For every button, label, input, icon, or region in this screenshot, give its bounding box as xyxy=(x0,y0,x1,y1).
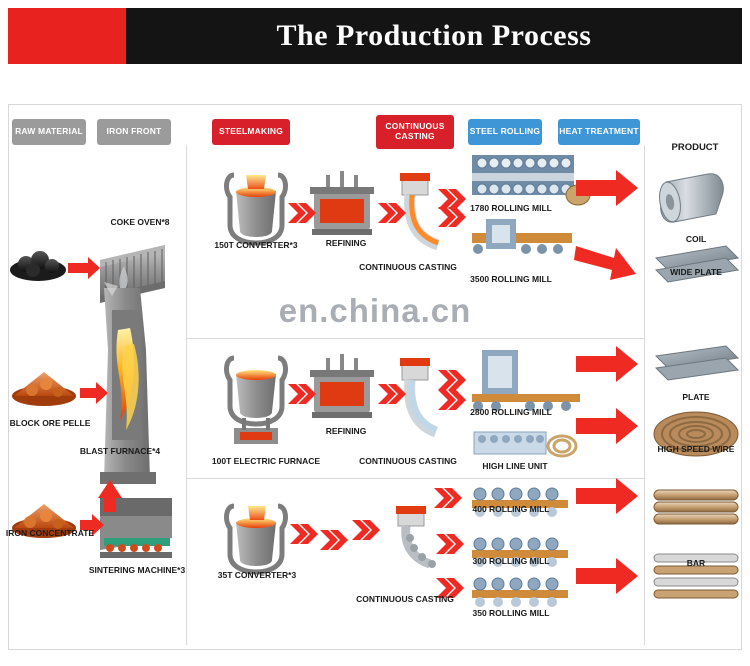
arrow-to-coil xyxy=(576,170,638,206)
label-high-line-unit: HIGH LINE UNIT xyxy=(460,461,570,471)
continuous-casting-icon-2 xyxy=(400,358,436,432)
label-product-plate: PLATE xyxy=(646,392,746,402)
label-refining-mid: REFINING xyxy=(306,426,386,436)
arrow-to-wide-plate xyxy=(574,246,636,280)
stage-label: STEELMAKING xyxy=(219,127,283,137)
header-red-block xyxy=(8,8,126,64)
coal-pile-icon xyxy=(10,251,66,281)
converter-150t-icon xyxy=(227,175,286,243)
label-converter-150t: 150T CONVERTER*3 xyxy=(196,240,316,250)
label-refining-top: REFINING xyxy=(306,238,386,248)
continuous-casting-icon-3 xyxy=(396,506,436,568)
product-bar-icon xyxy=(654,490,738,598)
page-header: The Production Process xyxy=(0,8,750,64)
stage-pill-steel-rolling[interactable]: STEEL ROLLING xyxy=(468,119,542,145)
stage-label: STEEL ROLLING xyxy=(470,127,540,137)
arrow-to-wire xyxy=(576,408,638,444)
product-coil-icon xyxy=(657,174,724,224)
label-mill-300: 300 ROLLING MILL xyxy=(456,556,566,566)
continuous-casting-icon-1 xyxy=(400,173,438,245)
chevrons-row2-b xyxy=(378,384,406,404)
converter-100t-icon xyxy=(227,358,286,444)
label-electric-furnace: 100T ELECTRIC FURNACE xyxy=(186,456,346,466)
refining-furnace-icon xyxy=(310,171,374,235)
label-mill-1780: 1780 ROLLING MILL xyxy=(456,203,566,213)
label-block-ore: BLOCK ORE PELLE xyxy=(0,418,100,428)
rolling-mill-350-icon xyxy=(472,578,568,607)
label-cc-top: CONTINUOUS CASTING xyxy=(348,262,468,272)
label-mill-2800: 2800 ROLLING MILL xyxy=(456,407,566,417)
chevrons-row1-b xyxy=(378,203,406,223)
arrow-to-bar-1 xyxy=(576,478,638,514)
output-arrows xyxy=(560,140,650,640)
label-mill-3500: 3500 ROLLING MILL xyxy=(456,274,566,284)
product-plate-icon xyxy=(656,346,738,380)
page-title: The Production Process xyxy=(126,8,742,64)
chevrons-row3-a xyxy=(290,520,380,550)
rolling-mill-3500-icon xyxy=(472,219,572,254)
label-converter-35t: 35T CONVERTER*3 xyxy=(192,570,322,580)
arrow-coal-to-oven xyxy=(68,257,100,279)
stage-label: HEAT TREATMENT xyxy=(559,127,638,137)
stage-pill-continuous-casting[interactable]: CONTINUOUS CASTING xyxy=(376,115,454,149)
refining-furnace-icon-2 xyxy=(310,354,374,418)
label-mill-350: 350 ROLLING MILL xyxy=(456,608,566,618)
arrow-ore-to-blast-furnace xyxy=(80,382,108,404)
label-product-coil: COIL xyxy=(646,234,746,244)
chevrons-row1-a xyxy=(288,203,316,223)
converter-35t-icon xyxy=(227,506,286,572)
label-blast-furnace: BLAST FURNACE*4 xyxy=(60,446,180,456)
block-ore-pile-icon xyxy=(12,372,76,406)
label-cc-mid: CONTINUOUS CASTING xyxy=(348,456,468,466)
chevrons-row2-c xyxy=(438,370,466,410)
label-mill-400: 400 ROLLING MILL xyxy=(456,504,566,514)
label-cc-bot: CONTINUOUS CASTING xyxy=(340,594,470,604)
arrow-to-bar-2 xyxy=(576,558,638,594)
label-iron-concentrate: IRON CONCENTRATE xyxy=(0,528,100,538)
label-product-wide-plate: WIDE PLATE xyxy=(646,267,746,277)
label-coke-oven: COKE OVEN*8 xyxy=(90,217,190,227)
stage-pill-steelmaking[interactable]: STEELMAKING xyxy=(212,119,290,145)
label-product-bar: BAR xyxy=(646,558,746,568)
arrow-to-plate xyxy=(576,346,638,382)
diagram-root: The Production Process RAW MATERIAL IRON… xyxy=(0,0,750,666)
chevrons-row2-a xyxy=(288,384,316,404)
label-product-high-speed-wire: HIGH SPEED WIRE xyxy=(642,444,750,454)
label-sintering-machine: SINTERING MACHINE*3 xyxy=(72,565,202,575)
stage-label: CONTINUOUS CASTING xyxy=(376,122,454,142)
